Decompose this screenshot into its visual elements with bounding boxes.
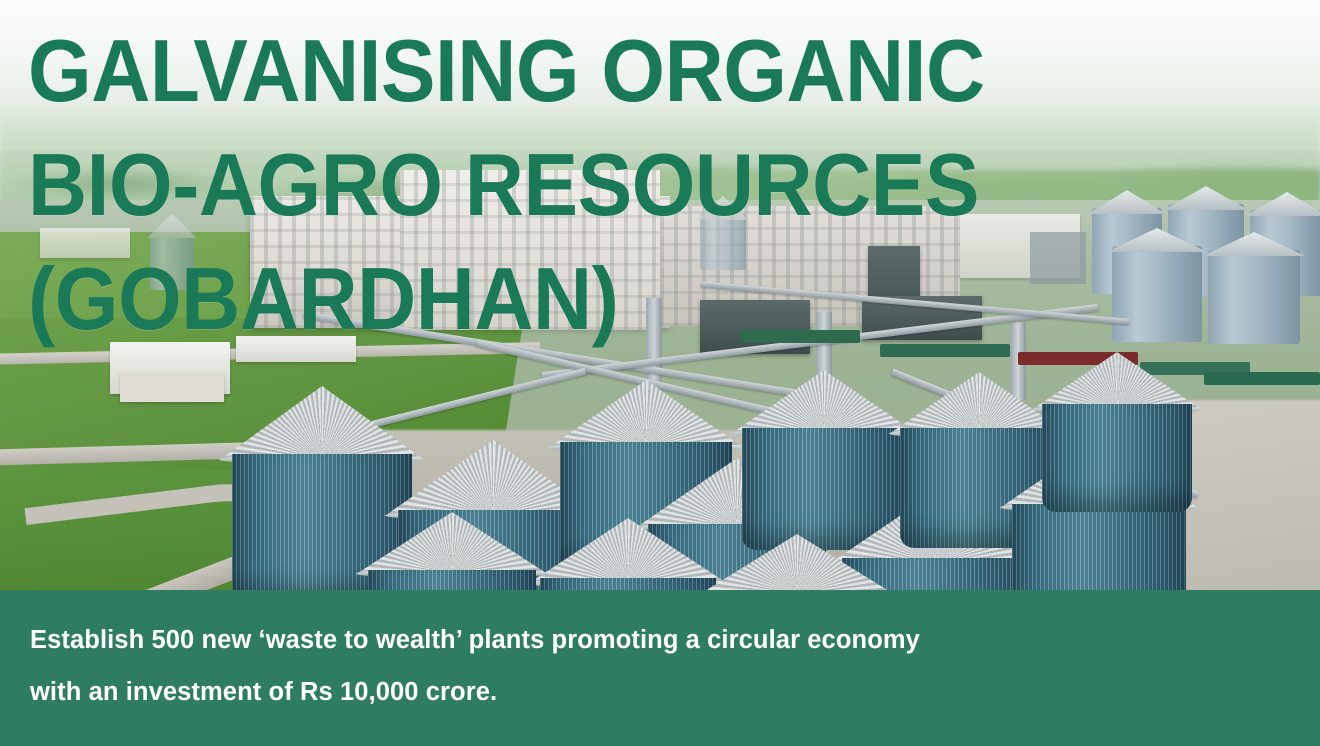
caption-text: Establish 500 new ‘waste to wealth’ plan… xyxy=(30,614,1150,718)
title-line-1: GALVANISING ORGANIC xyxy=(28,14,1209,128)
title-line-3: (GOBARDHAN) xyxy=(28,242,1209,356)
caption-banner: Establish 500 new ‘waste to wealth’ plan… xyxy=(0,590,1320,746)
caption-line-2: with an investment of Rs 10,000 crore. xyxy=(30,666,1150,718)
infographic-card: GALVANISING ORGANIC BIO-AGRO RESOURCES (… xyxy=(0,0,1320,746)
page-title: GALVANISING ORGANIC BIO-AGRO RESOURCES (… xyxy=(28,0,1209,356)
silo-9 xyxy=(1042,352,1192,512)
caption-line-1: Establish 500 new ‘waste to wealth’ plan… xyxy=(30,614,1150,666)
rail-car-green-4 xyxy=(1204,372,1320,385)
silo-distant-5 xyxy=(1208,250,1300,344)
office-building-base xyxy=(120,372,224,402)
title-line-2: BIO-AGRO RESOURCES xyxy=(28,128,1209,242)
